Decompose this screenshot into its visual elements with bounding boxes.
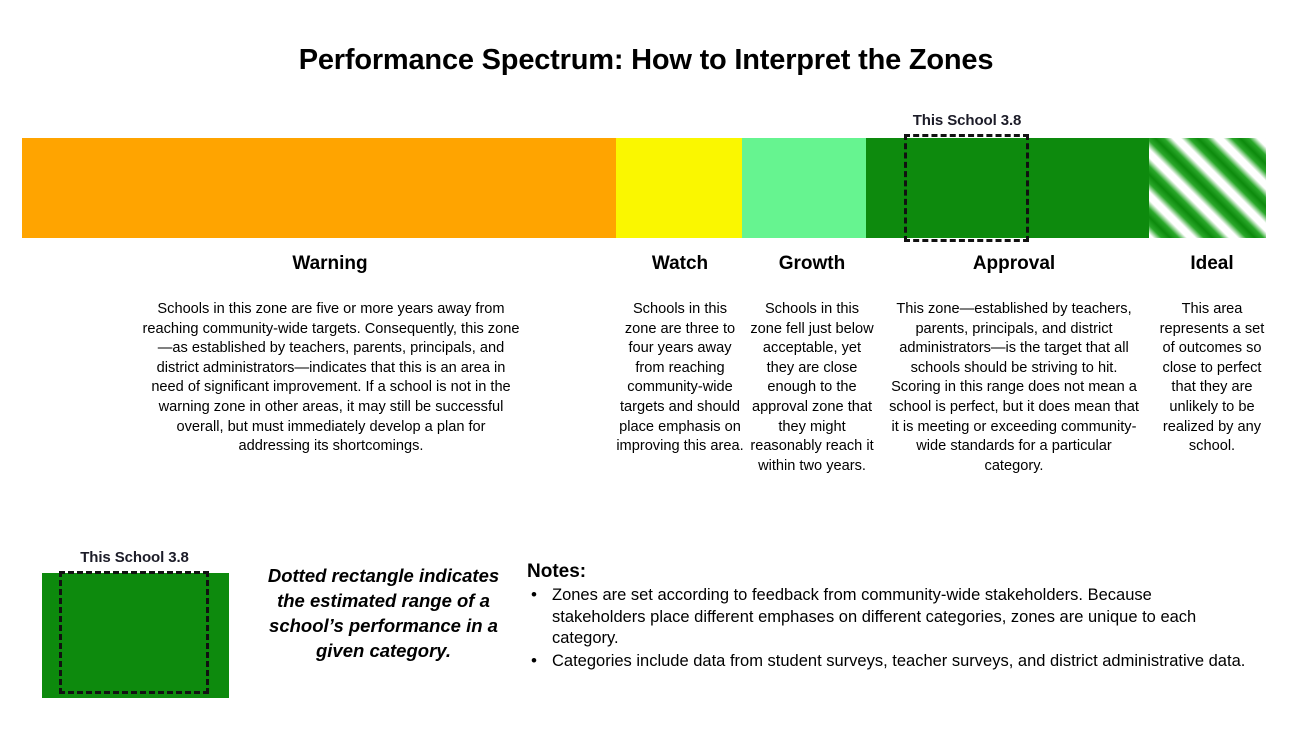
zone-segment-warning[interactable]: [22, 138, 616, 238]
zone-description-growth: Schools in this zone fell just below acc…: [749, 300, 875, 476]
note-item: Zones are set according to feedback from…: [527, 585, 1247, 650]
zone-description-ideal: This area represents a set of outcomes s…: [1157, 300, 1267, 457]
notes-title: Notes:: [527, 561, 1247, 583]
zone-heading-growth: Growth: [748, 253, 876, 275]
zone-description-approval: This zone—established by teachers, paren…: [886, 300, 1142, 476]
legend-marker-label: This School 3.8: [47, 549, 222, 566]
zone-heading-ideal: Ideal: [1156, 253, 1268, 275]
zone-segment-watch[interactable]: [616, 138, 742, 238]
zone-segment-ideal[interactable]: [1149, 138, 1266, 238]
zone-description-watch: Schools in this zone are three to four y…: [616, 300, 744, 457]
this-school-marker-label: This School 3.8: [893, 112, 1041, 129]
legend-dotted-rectangle: [59, 571, 209, 694]
notes-section: Notes: Zones are set according to feedba…: [527, 561, 1247, 673]
this-school-range-rectangle[interactable]: [904, 134, 1029, 242]
zone-segment-growth[interactable]: [742, 138, 866, 238]
zone-heading-warning: Warning: [140, 253, 520, 275]
note-item: Categories include data from student sur…: [527, 651, 1247, 673]
legend-caption: Dotted rectangle indicates the estimated…: [256, 563, 511, 663]
performance-spectrum-infographic: Performance Spectrum: How to Interpret t…: [0, 0, 1292, 746]
spectrum-bar: [22, 138, 1266, 238]
zone-heading-watch: Watch: [615, 253, 745, 275]
zone-description-warning: Schools in this zone are five or more ye…: [140, 300, 522, 457]
page-title: Performance Spectrum: How to Interpret t…: [0, 44, 1292, 77]
notes-list: Zones are set according to feedback from…: [527, 585, 1247, 672]
zone-heading-approval: Approval: [885, 253, 1143, 275]
zone-heading-row: Warning Watch Growth Approval Ideal: [0, 253, 1292, 279]
